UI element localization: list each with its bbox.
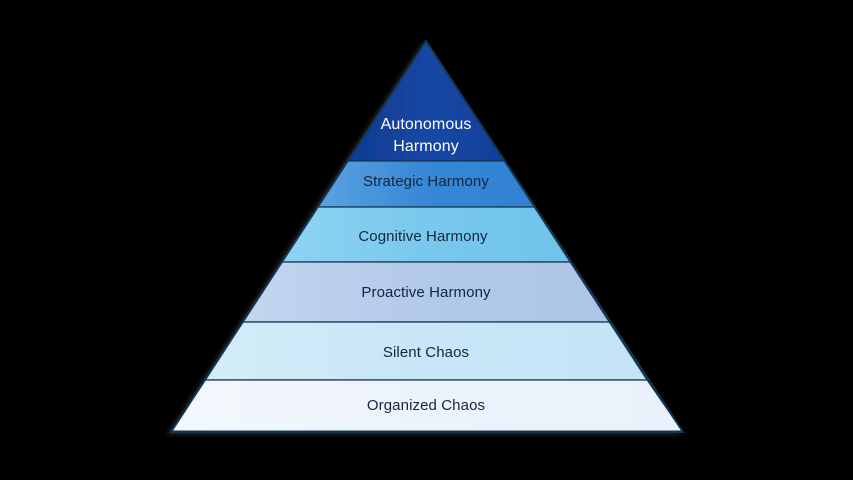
pyramid-level-1-label-line2: Harmony [393,138,459,155]
pyramid-graphic: Autonomous Harmony Strategic Harmony Cog… [0,0,853,480]
pyramid-level-2-label: Strategic Harmony [363,173,489,190]
pyramid-level-6-label: Organized Chaos [367,397,485,414]
pyramid-diagram-canvas: Autonomous Harmony Strategic Harmony Cog… [0,0,853,480]
pyramid-level-5-label: Silent Chaos [383,344,469,361]
pyramid-level-1-label-line1: Autonomous [381,116,472,133]
pyramid-level-4-label: Proactive Harmony [361,284,491,301]
pyramid-level-3-label: Cognitive Harmony [358,228,488,245]
